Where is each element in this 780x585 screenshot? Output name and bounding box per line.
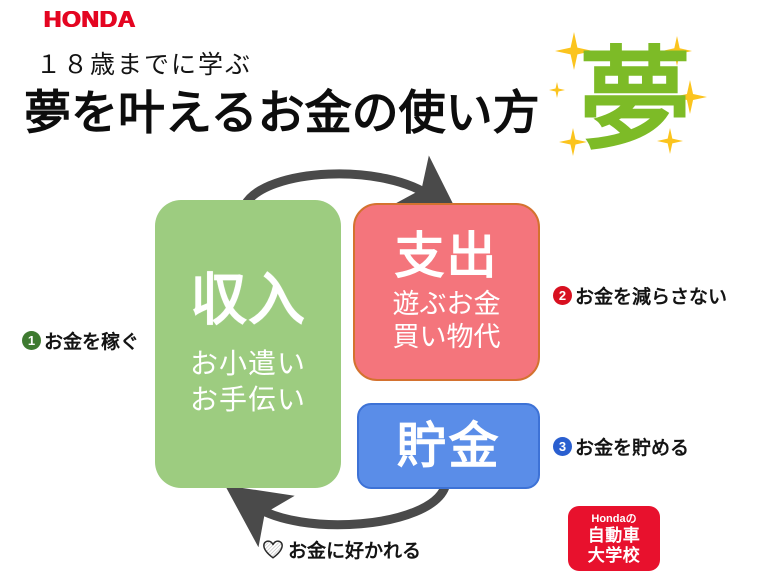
callout-earn-money: 1 お金を稼ぐ (22, 327, 139, 354)
callout-save-money: 3 お金を貯める (553, 433, 689, 460)
honda-school-logo[interactable]: Hondaの 自動車 大学校 (568, 506, 660, 571)
heart-icon (263, 540, 283, 559)
school-logo-line-1: Hondaの (591, 513, 636, 526)
school-logo-line-2: 自動車 (588, 526, 641, 546)
callout-number-2: 2 (553, 286, 572, 305)
arrow-savings-to-income (253, 487, 445, 525)
yume-kanji-glyph: 夢 (573, 42, 697, 160)
box-expense-line-1: 遊ぶお金 (393, 288, 501, 320)
box-expense-line-2: 買い物代 (393, 321, 501, 353)
callout-label-3: お金を貯める (575, 433, 689, 460)
page-subtitle: １８歳までに学ぶ (36, 45, 252, 81)
box-savings-title: 貯金 (397, 421, 501, 471)
box-income[interactable]: 収入 お小遣い お手伝い (155, 200, 341, 488)
callout-label-2: お金を減らさない (575, 282, 727, 309)
box-expense-title: 支出 (395, 231, 499, 282)
box-income-line-1: お小遣い (190, 346, 306, 382)
yume-kanji-art: 夢 (545, 24, 725, 174)
box-income-title: 収入 (190, 271, 306, 330)
school-logo-line-3: 大学校 (588, 546, 641, 566)
callout-dont-waste-money: 2 お金を減らさない (553, 282, 727, 309)
footer-note-label: お金に好かれる (288, 536, 421, 563)
sparkle-star-icon (549, 82, 565, 98)
callout-number-3: 3 (553, 437, 572, 456)
footer-note: お金に好かれる (263, 536, 421, 563)
box-income-line-2: お手伝い (190, 382, 306, 418)
callout-number-1: 1 (22, 331, 41, 350)
box-savings[interactable]: 貯金 (357, 403, 540, 489)
box-expense[interactable]: 支出 遊ぶお金 買い物代 (353, 203, 540, 381)
slide-canvas: HONDA １８歳までに学ぶ 夢を叶えるお金の使い方 夢 収入 お小遣い お手伝… (0, 0, 780, 585)
page-title: 夢を叶えるお金の使い方 (24, 86, 540, 140)
honda-wordmark-text: HONDA (44, 8, 136, 31)
honda-logo: HONDA (22, 6, 158, 32)
callout-label-1: お金を稼ぐ (44, 327, 139, 354)
